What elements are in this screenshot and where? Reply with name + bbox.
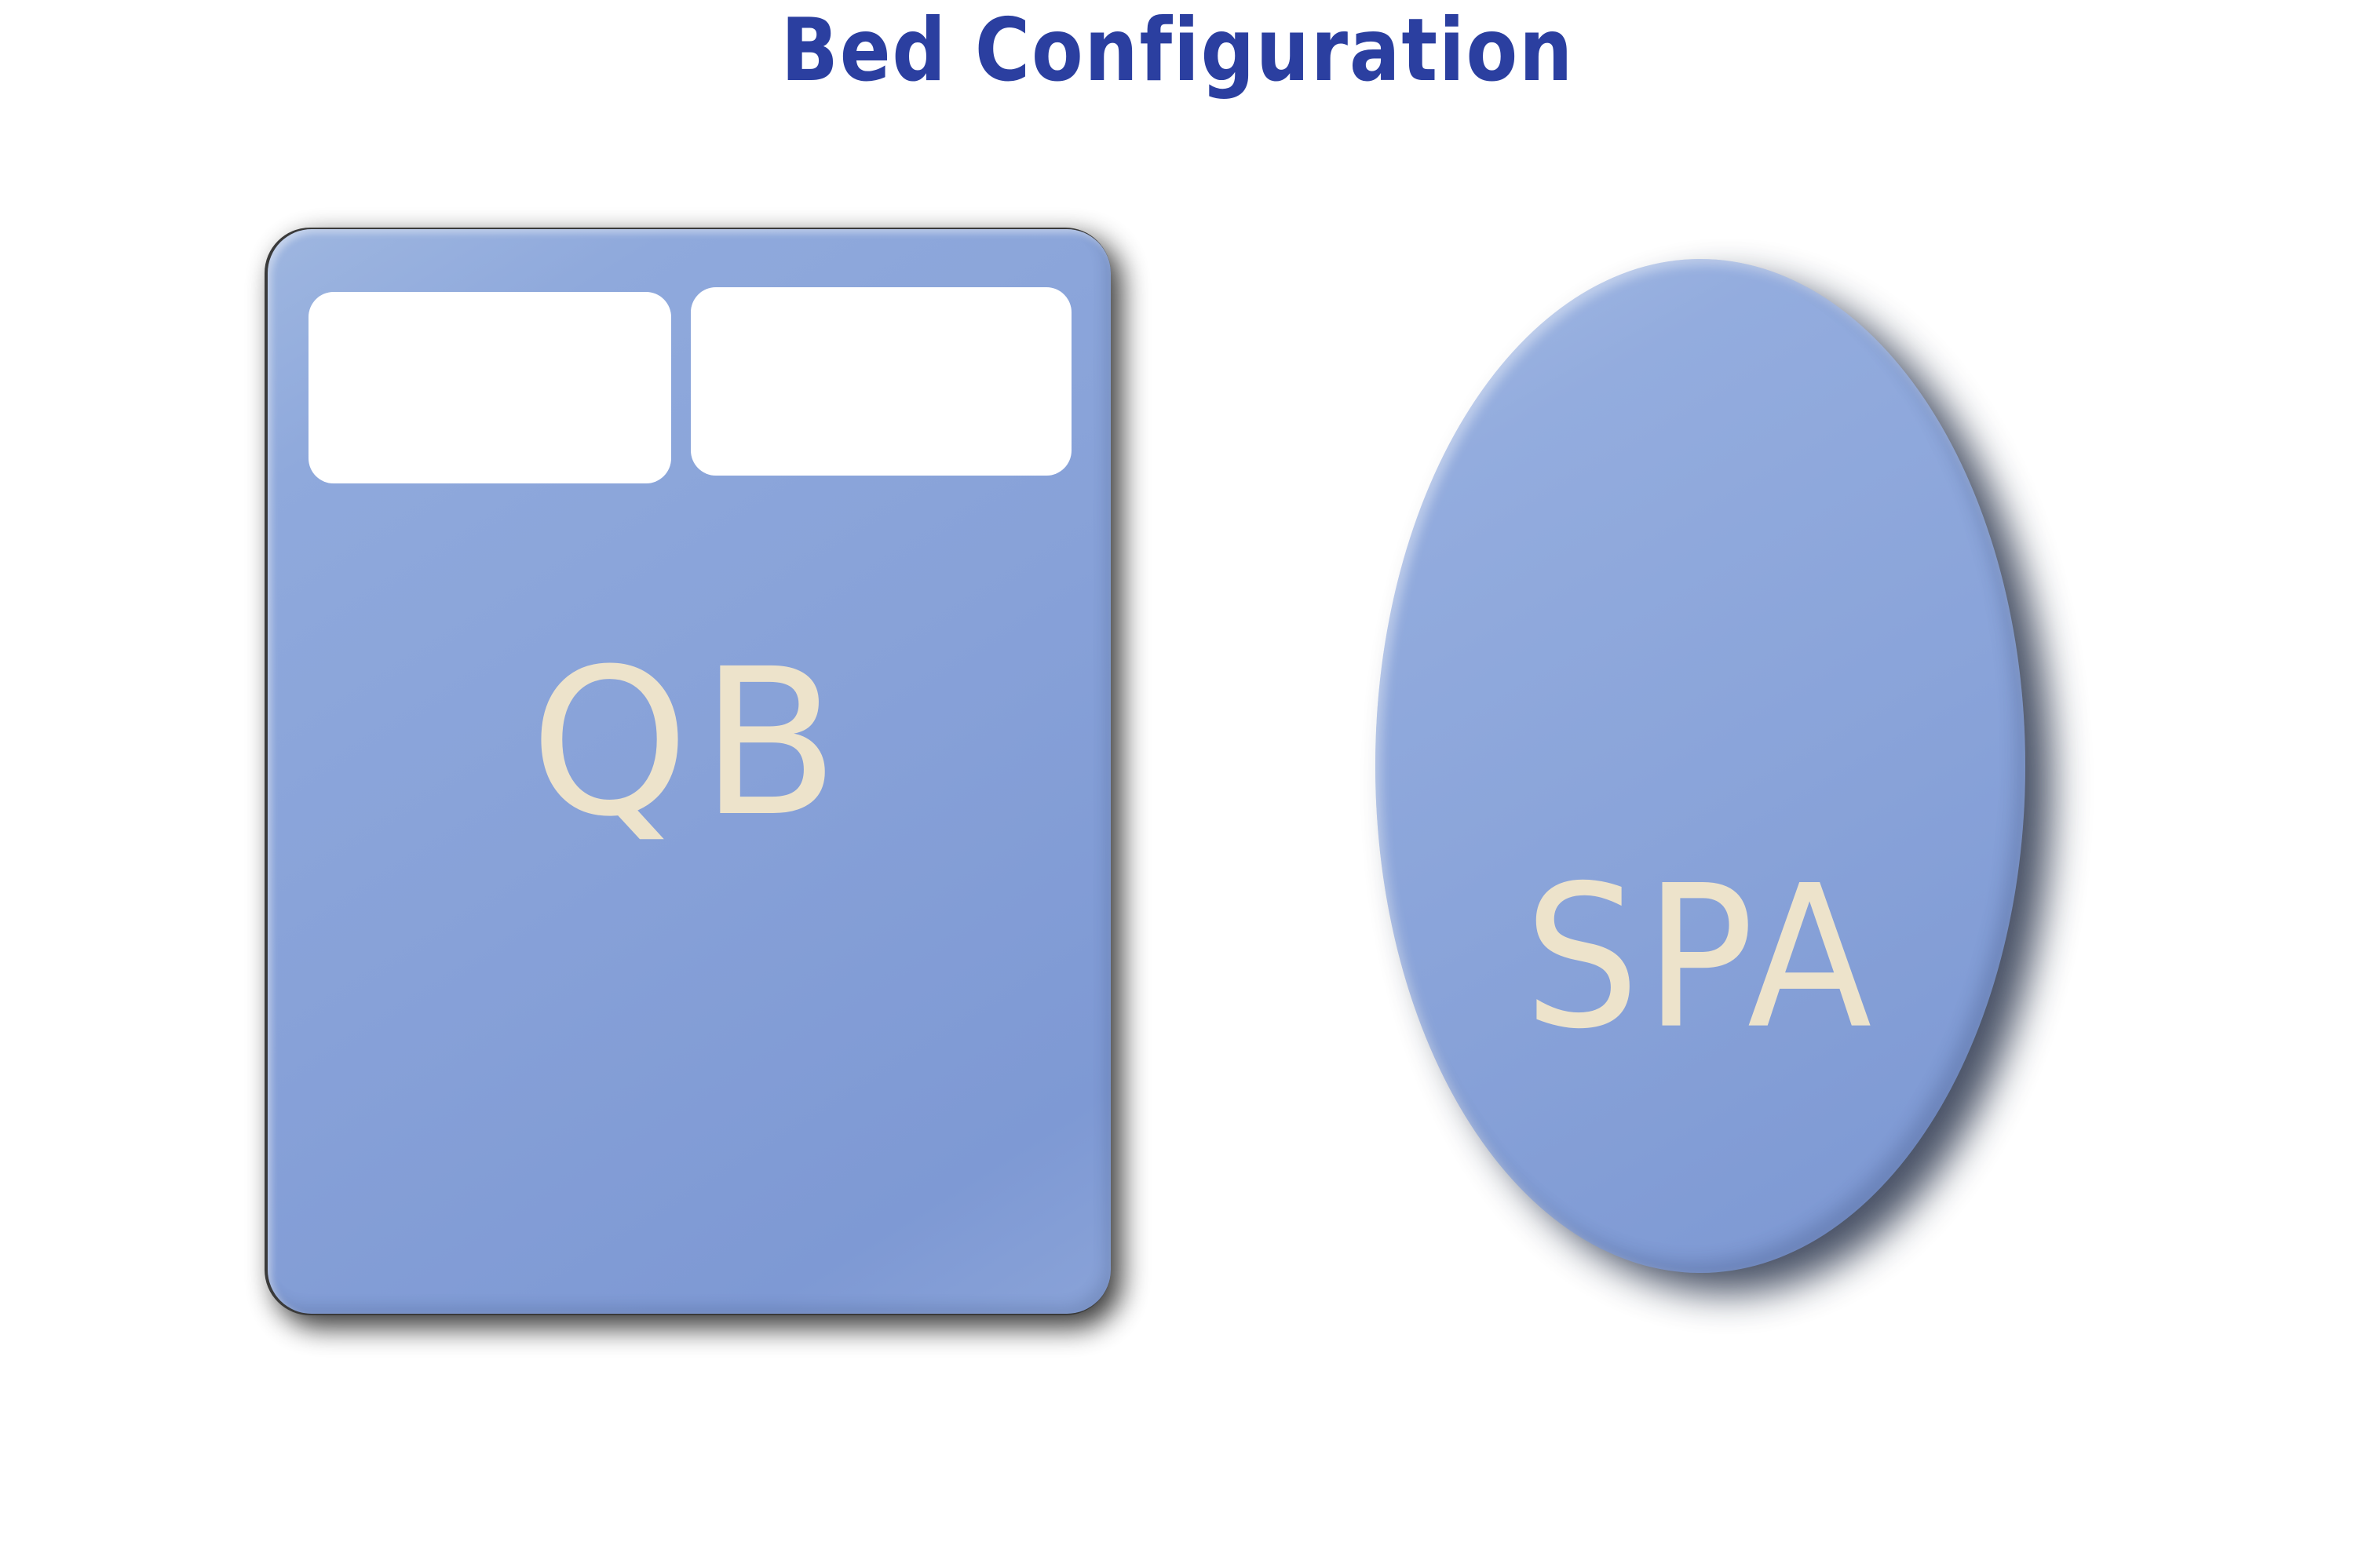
spa-icon[interactable]: SPA — [1375, 259, 2066, 1311]
bed-code-label: QB — [263, 642, 1117, 844]
spa-code-label: SPA — [1375, 859, 2025, 1056]
bed-icon[interactable]: QB — [263, 226, 1117, 1323]
spa-ellipse-body — [1375, 259, 2025, 1273]
page-title: Bed Configuration — [94, 0, 2261, 100]
pillow-left-icon — [309, 292, 671, 483]
pillow-right-icon — [691, 287, 1072, 476]
diagram-canvas: Bed Configuration QB SPA — [0, 0, 2355, 1568]
